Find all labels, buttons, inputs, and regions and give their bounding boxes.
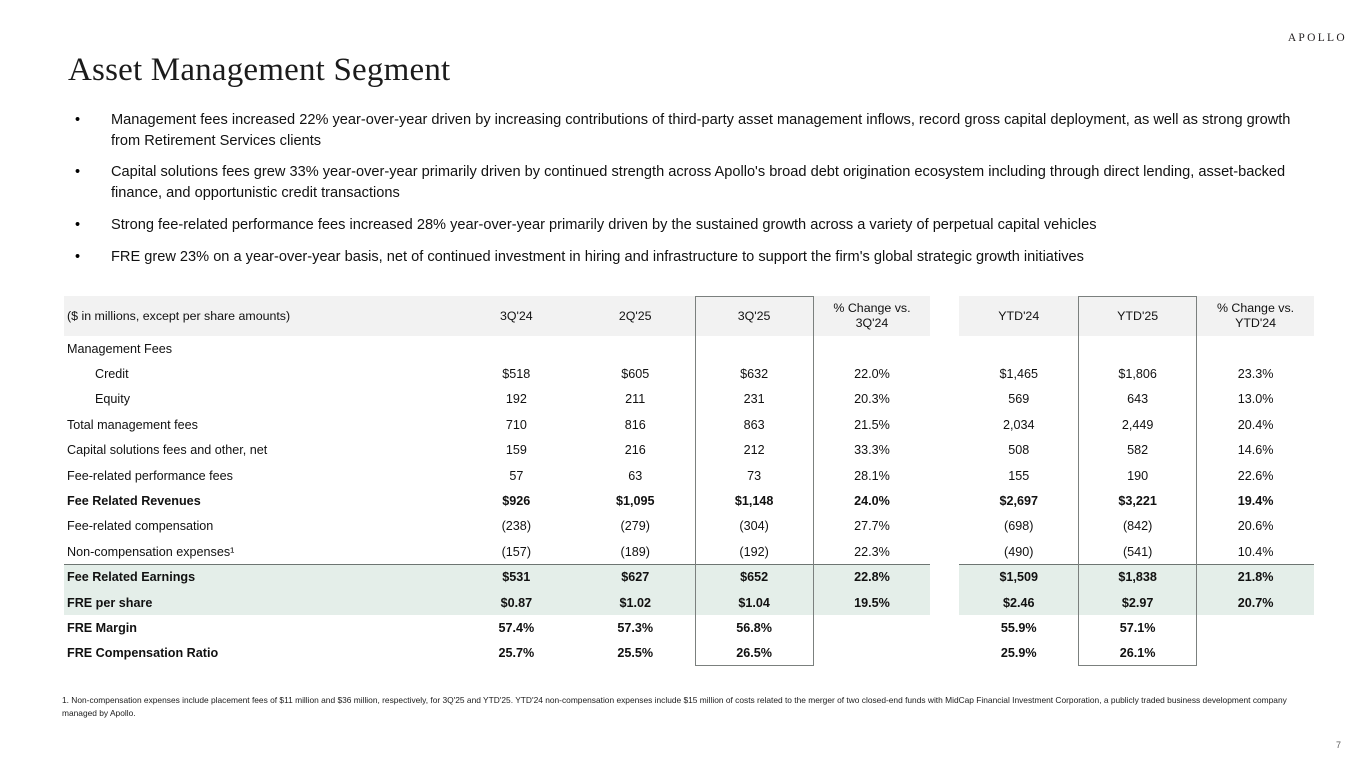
column-gap — [930, 565, 959, 590]
cell-change-3q24: 22.0% — [814, 361, 931, 386]
cell-2q25: $1,095 — [576, 488, 695, 513]
cell-change-ytd24: 21.8% — [1197, 565, 1314, 590]
table-row: FRE Compensation Ratio25.7%25.5%26.5%25.… — [64, 641, 1314, 666]
cell-change-3q24: 33.3% — [814, 438, 931, 463]
column-gap — [930, 387, 959, 412]
table-row: Fee-related performance fees57637328.1%1… — [64, 463, 1314, 488]
column-gap — [930, 590, 959, 615]
cell-ytd25: $2.97 — [1078, 590, 1197, 615]
column-gap — [930, 361, 959, 386]
cell-ytd24: $1,509 — [959, 565, 1078, 590]
cell-3q24: $518 — [457, 361, 576, 386]
apollo-logo: APOLLO — [1288, 32, 1347, 44]
table-row: Capital solutions fees and other, net159… — [64, 438, 1314, 463]
cell-change-3q24: 28.1% — [814, 463, 931, 488]
bullet-text: Capital solutions fees grew 33% year-ove… — [111, 162, 1308, 203]
cell-change-ytd24: 22.6% — [1197, 463, 1314, 488]
cell-ytd24: 569 — [959, 387, 1078, 412]
row-label: FRE Margin — [64, 615, 457, 640]
cell-3q25: (192) — [695, 539, 814, 564]
row-label: Credit — [64, 361, 457, 386]
cell-ytd25: $1,838 — [1078, 565, 1197, 590]
cell-ytd24: 55.9% — [959, 615, 1078, 640]
bullet-marker-icon: • — [75, 162, 80, 183]
cell-ytd24: 508 — [959, 438, 1078, 463]
cell-change-3q24: 20.3% — [814, 387, 931, 412]
column-gap — [930, 463, 959, 488]
cell-ytd25: 190 — [1078, 463, 1197, 488]
row-label: Capital solutions fees and other, net — [64, 438, 457, 463]
bullet-marker-icon: • — [75, 247, 80, 268]
header-2q25: 2Q'25 — [576, 296, 695, 336]
column-gap — [930, 488, 959, 513]
cell-3q25: 73 — [695, 463, 814, 488]
cell-ytd24 — [959, 336, 1078, 361]
cell-2q25: 216 — [576, 438, 695, 463]
cell-change-ytd24 — [1197, 615, 1314, 640]
bullet-item: •Strong fee-related performance fees inc… — [68, 215, 1308, 236]
column-gap — [930, 336, 959, 361]
cell-3q24: (157) — [457, 539, 576, 564]
table-row: Total management fees71081686321.5%2,034… — [64, 412, 1314, 437]
cell-change-3q24 — [814, 641, 931, 666]
header-change-ytd24: % Change vs. YTD'24 — [1197, 296, 1314, 336]
table-row: Management Fees — [64, 336, 1314, 361]
header-change-ytd24-line2: YTD'24 — [1235, 316, 1276, 330]
row-label: FRE per share — [64, 590, 457, 615]
cell-2q25: 211 — [576, 387, 695, 412]
cell-3q25: (304) — [695, 514, 814, 539]
cell-change-3q24: 22.8% — [814, 565, 931, 590]
cell-change-ytd24: 20.7% — [1197, 590, 1314, 615]
cell-change-ytd24: 10.4% — [1197, 539, 1314, 564]
cell-3q24: $0.87 — [457, 590, 576, 615]
table-row: Non-compensation expenses¹(157)(189)(192… — [64, 539, 1314, 564]
cell-3q24: 25.7% — [457, 641, 576, 666]
cell-2q25: (189) — [576, 539, 695, 564]
cell-ytd25: 643 — [1078, 387, 1197, 412]
cell-3q25: 26.5% — [695, 641, 814, 666]
table-row: Fee Related Revenues$926$1,095$1,14824.0… — [64, 488, 1314, 513]
column-gap — [930, 615, 959, 640]
cell-3q25: $632 — [695, 361, 814, 386]
bullet-marker-icon: • — [75, 215, 80, 236]
header-gap — [930, 296, 959, 336]
cell-3q24: 192 — [457, 387, 576, 412]
cell-change-3q24: 24.0% — [814, 488, 931, 513]
column-gap — [930, 514, 959, 539]
column-gap — [930, 539, 959, 564]
table: ($ in millions, except per share amounts… — [64, 296, 1314, 666]
cell-2q25: 57.3% — [576, 615, 695, 640]
header-ytd25: YTD'25 — [1078, 296, 1197, 336]
cell-2q25: $1.02 — [576, 590, 695, 615]
cell-ytd24: 155 — [959, 463, 1078, 488]
table-row: Equity19221123120.3%56964313.0% — [64, 387, 1314, 412]
header-change-ytd24-line1: % Change vs. — [1217, 301, 1294, 315]
cell-change-3q24 — [814, 615, 931, 640]
cell-3q24: 57.4% — [457, 615, 576, 640]
cell-3q24: (238) — [457, 514, 576, 539]
cell-change-3q24 — [814, 336, 931, 361]
row-label: Fee-related performance fees — [64, 463, 457, 488]
table-row: Credit$518$605$63222.0%$1,465$1,80623.3% — [64, 361, 1314, 386]
cell-ytd25: $1,806 — [1078, 361, 1197, 386]
cell-change-ytd24 — [1197, 641, 1314, 666]
table-head: ($ in millions, except per share amounts… — [64, 296, 1314, 336]
header-label: ($ in millions, except per share amounts… — [64, 296, 457, 336]
cell-3q24: $531 — [457, 565, 576, 590]
cell-3q25: $652 — [695, 565, 814, 590]
header-change-3q24-line1: % Change vs. — [833, 301, 910, 315]
row-label: Non-compensation expenses¹ — [64, 539, 457, 564]
cell-ytd24: 2,034 — [959, 412, 1078, 437]
row-label: Fee-related compensation — [64, 514, 457, 539]
cell-ytd24: $2.46 — [959, 590, 1078, 615]
bullet-text: Strong fee-related performance fees incr… — [111, 215, 1308, 236]
cell-ytd24: (490) — [959, 539, 1078, 564]
row-label: Fee Related Revenues — [64, 488, 457, 513]
cell-ytd24: $1,465 — [959, 361, 1078, 386]
cell-ytd25: (541) — [1078, 539, 1197, 564]
row-label: FRE Compensation Ratio — [64, 641, 457, 666]
bullet-marker-icon: • — [75, 110, 80, 131]
cell-ytd24: $2,697 — [959, 488, 1078, 513]
cell-2q25: 63 — [576, 463, 695, 488]
page-title: Asset Management Segment — [68, 52, 450, 89]
cell-3q25: 56.8% — [695, 615, 814, 640]
cell-3q25: 863 — [695, 412, 814, 437]
table-row: Fee Related Earnings$531$627$65222.8%$1,… — [64, 565, 1314, 590]
cell-ytd25 — [1078, 336, 1197, 361]
slide: APOLLO Asset Management Segment •Managem… — [0, 0, 1365, 768]
cell-2q25: 816 — [576, 412, 695, 437]
cell-3q24: 159 — [457, 438, 576, 463]
header-ytd24: YTD'24 — [959, 296, 1078, 336]
cell-change-ytd24 — [1197, 336, 1314, 361]
bullet-text: FRE grew 23% on a year-over-year basis, … — [111, 247, 1308, 268]
cell-3q25: 212 — [695, 438, 814, 463]
cell-3q24: $926 — [457, 488, 576, 513]
cell-ytd24: (698) — [959, 514, 1078, 539]
header-3q25: 3Q'25 — [695, 296, 814, 336]
header-3q24: 3Q'24 — [457, 296, 576, 336]
cell-change-ytd24: 23.3% — [1197, 361, 1314, 386]
cell-2q25: $605 — [576, 361, 695, 386]
column-gap — [930, 412, 959, 437]
column-gap — [930, 641, 959, 666]
cell-change-3q24: 22.3% — [814, 539, 931, 564]
cell-change-ytd24: 19.4% — [1197, 488, 1314, 513]
cell-3q24: 710 — [457, 412, 576, 437]
table-body: Management FeesCredit$518$605$63222.0%$1… — [64, 336, 1314, 666]
bullet-text: Management fees increased 22% year-over-… — [111, 110, 1308, 151]
cell-ytd25: $3,221 — [1078, 488, 1197, 513]
row-label: Management Fees — [64, 336, 457, 361]
column-gap — [930, 438, 959, 463]
row-label: Fee Related Earnings — [64, 565, 457, 590]
cell-change-3q24: 21.5% — [814, 412, 931, 437]
bullet-item: •Capital solutions fees grew 33% year-ov… — [68, 162, 1308, 203]
header-row: ($ in millions, except per share amounts… — [64, 296, 1314, 336]
cell-2q25 — [576, 336, 695, 361]
bullet-item: •FRE grew 23% on a year-over-year basis,… — [68, 247, 1308, 268]
page-number: 7 — [1336, 740, 1341, 750]
header-change-3q24-line2: 3Q'24 — [856, 316, 889, 330]
table-row: FRE per share$0.87$1.02$1.0419.5%$2.46$2… — [64, 590, 1314, 615]
cell-3q25: $1.04 — [695, 590, 814, 615]
cell-change-3q24: 19.5% — [814, 590, 931, 615]
cell-ytd25: 582 — [1078, 438, 1197, 463]
cell-ytd25: (842) — [1078, 514, 1197, 539]
cell-ytd25: 57.1% — [1078, 615, 1197, 640]
table-row: FRE Margin57.4%57.3%56.8%55.9%57.1% — [64, 615, 1314, 640]
cell-3q24: 57 — [457, 463, 576, 488]
cell-3q25: 231 — [695, 387, 814, 412]
cell-3q24 — [457, 336, 576, 361]
cell-change-ytd24: 20.6% — [1197, 514, 1314, 539]
bullet-item: •Management fees increased 22% year-over… — [68, 110, 1308, 151]
cell-ytd25: 26.1% — [1078, 641, 1197, 666]
header-change-3q24: % Change vs. 3Q'24 — [814, 296, 931, 336]
cell-change-ytd24: 13.0% — [1197, 387, 1314, 412]
cell-ytd24: 25.9% — [959, 641, 1078, 666]
footnote: 1. Non-compensation expenses include pla… — [62, 694, 1312, 720]
row-label: Equity — [64, 387, 457, 412]
cell-change-ytd24: 14.6% — [1197, 438, 1314, 463]
table-row: Fee-related compensation(238)(279)(304)2… — [64, 514, 1314, 539]
cell-3q25 — [695, 336, 814, 361]
cell-change-3q24: 27.7% — [814, 514, 931, 539]
bullet-list: •Management fees increased 22% year-over… — [68, 110, 1308, 278]
cell-change-ytd24: 20.4% — [1197, 412, 1314, 437]
cell-2q25: (279) — [576, 514, 695, 539]
cell-2q25: 25.5% — [576, 641, 695, 666]
financial-table: ($ in millions, except per share amounts… — [64, 296, 1314, 666]
cell-3q25: $1,148 — [695, 488, 814, 513]
cell-ytd25: 2,449 — [1078, 412, 1197, 437]
cell-2q25: $627 — [576, 565, 695, 590]
row-label: Total management fees — [64, 412, 457, 437]
